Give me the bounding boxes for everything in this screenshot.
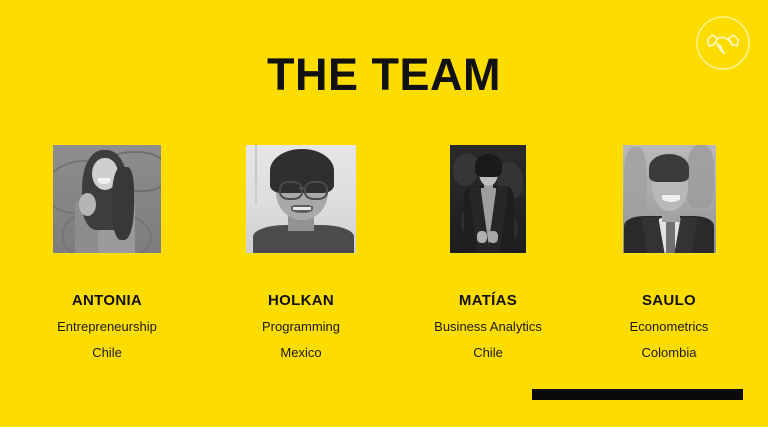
team-members-row: ANTONIA Entrepreneurship Chile: [0, 145, 768, 375]
portrait-image: [53, 145, 161, 253]
member-photo-antonia: [53, 145, 161, 253]
member-name: SAULO: [562, 293, 768, 308]
team-member-holkan: HOLKAN Programming Mexico: [194, 145, 408, 359]
member-name: ANTONIA: [0, 293, 214, 308]
portrait-image: [623, 145, 716, 253]
member-name: HOLKAN: [194, 293, 408, 308]
slide-canvas: THE TEAM ANTONIA Ent: [0, 0, 768, 427]
accent-bar: [532, 389, 743, 400]
page-title: THE TEAM: [0, 52, 768, 97]
member-photo-holkan: [246, 145, 356, 253]
member-country: Chile: [0, 346, 214, 359]
portrait-image: [450, 145, 526, 253]
slide-bottom-edge: [0, 427, 768, 432]
member-country: Colombia: [562, 346, 768, 359]
team-member-saulo: SAULO Econometrics Colombia: [562, 145, 768, 359]
portrait-image: [246, 145, 356, 253]
member-role: Programming: [194, 320, 408, 333]
member-photo-saulo: [623, 145, 716, 253]
member-role: Econometrics: [562, 320, 768, 333]
member-country: Mexico: [194, 346, 408, 359]
member-role: Entrepreneurship: [0, 320, 214, 333]
member-photo-matias: [450, 145, 526, 253]
team-member-antonia: ANTONIA Entrepreneurship Chile: [0, 145, 214, 359]
